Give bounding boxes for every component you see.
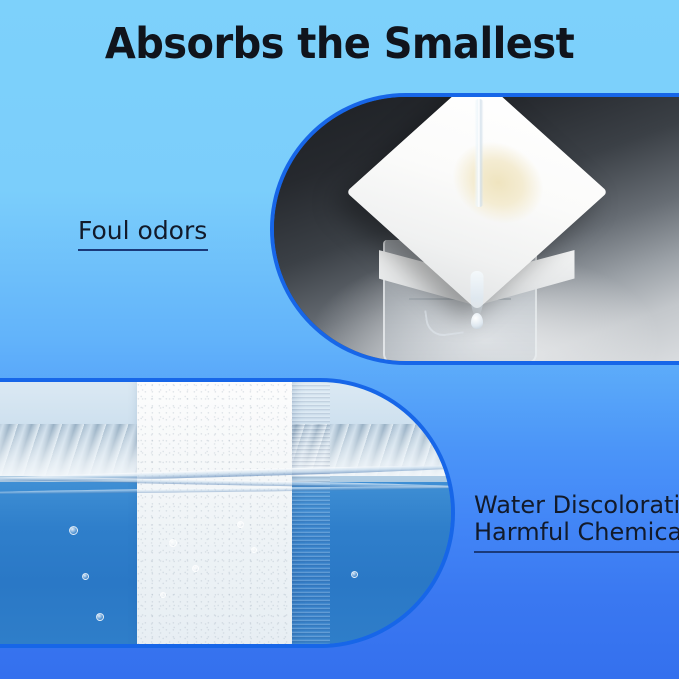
bubble bbox=[251, 547, 257, 553]
promo-image-canvas: Absorbs the Smallest bbox=[0, 0, 679, 679]
bubble bbox=[160, 592, 166, 598]
panel-underwater-filter bbox=[0, 378, 455, 648]
bubble bbox=[351, 571, 358, 578]
filter-pad-edge-graphic bbox=[292, 378, 331, 648]
filter-pad-texture bbox=[137, 378, 292, 648]
droplet-graphic bbox=[471, 313, 483, 329]
callout-water-line-1: Water Discoloration bbox=[474, 491, 679, 519]
pouring-stream-graphic bbox=[474, 99, 483, 207]
beaker-spout-graphic bbox=[424, 305, 464, 338]
callout-foul-odors-text: Foul odors bbox=[78, 216, 207, 245]
bubble bbox=[237, 521, 244, 528]
bubble bbox=[96, 613, 104, 621]
panel-sponge-pouring bbox=[270, 93, 679, 365]
sponge-photo bbox=[274, 97, 679, 361]
drip-graphic bbox=[470, 271, 483, 317]
page-title: Absorbs the Smallest bbox=[24, 22, 655, 67]
bubble bbox=[69, 526, 78, 535]
callout-water-underline bbox=[474, 551, 679, 553]
callout-foul-odors: Foul odors bbox=[78, 217, 208, 251]
underwater-photo bbox=[0, 382, 451, 644]
filter-pad-graphic bbox=[137, 378, 292, 648]
callout-water-discoloration: Water Discoloration Harmful Chemicals bbox=[474, 492, 679, 553]
callout-foul-odors-underline bbox=[78, 249, 208, 251]
callout-water-line-2: Harmful Chemicals bbox=[474, 518, 679, 546]
